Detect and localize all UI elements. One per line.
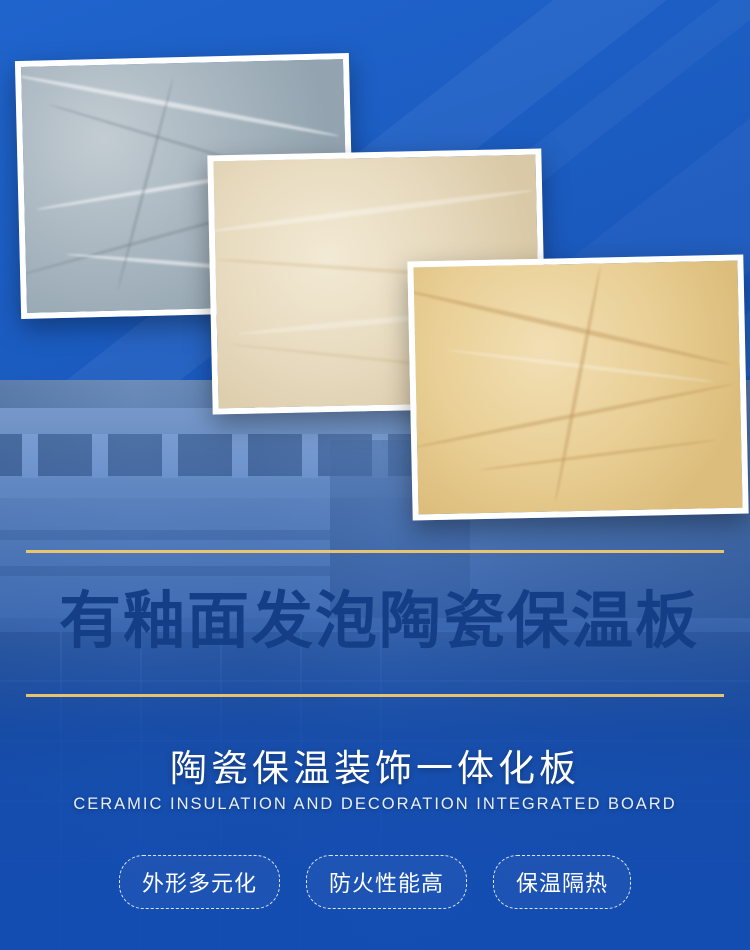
headline-band: 有釉面发泡陶瓷保温板 有釉面发泡陶瓷保温板 — [0, 548, 750, 698]
headline-divider-bottom — [26, 694, 724, 697]
page-title: 有釉面发泡陶瓷保温板 — [0, 566, 750, 656]
feature-pill-3: 保温隔热 — [493, 855, 631, 909]
tile-sample-golden-marble — [407, 255, 748, 521]
subtitle-english: CERAMIC INSULATION AND DECORATION INTEGR… — [0, 795, 750, 814]
product-poster: 有釉面发泡陶瓷保温板 有釉面发泡陶瓷保温板 陶瓷保温装饰一体化板 CERAMIC… — [0, 0, 750, 950]
feature-pill-2: 防火性能高 — [306, 855, 467, 909]
feature-pill-list: 外形多元化 防火性能高 保温隔热 — [0, 855, 750, 909]
subtitle-chinese: 陶瓷保温装饰一体化板 — [0, 738, 750, 792]
headline-divider-top — [26, 550, 724, 553]
feature-pill-1: 外形多元化 — [119, 855, 280, 909]
